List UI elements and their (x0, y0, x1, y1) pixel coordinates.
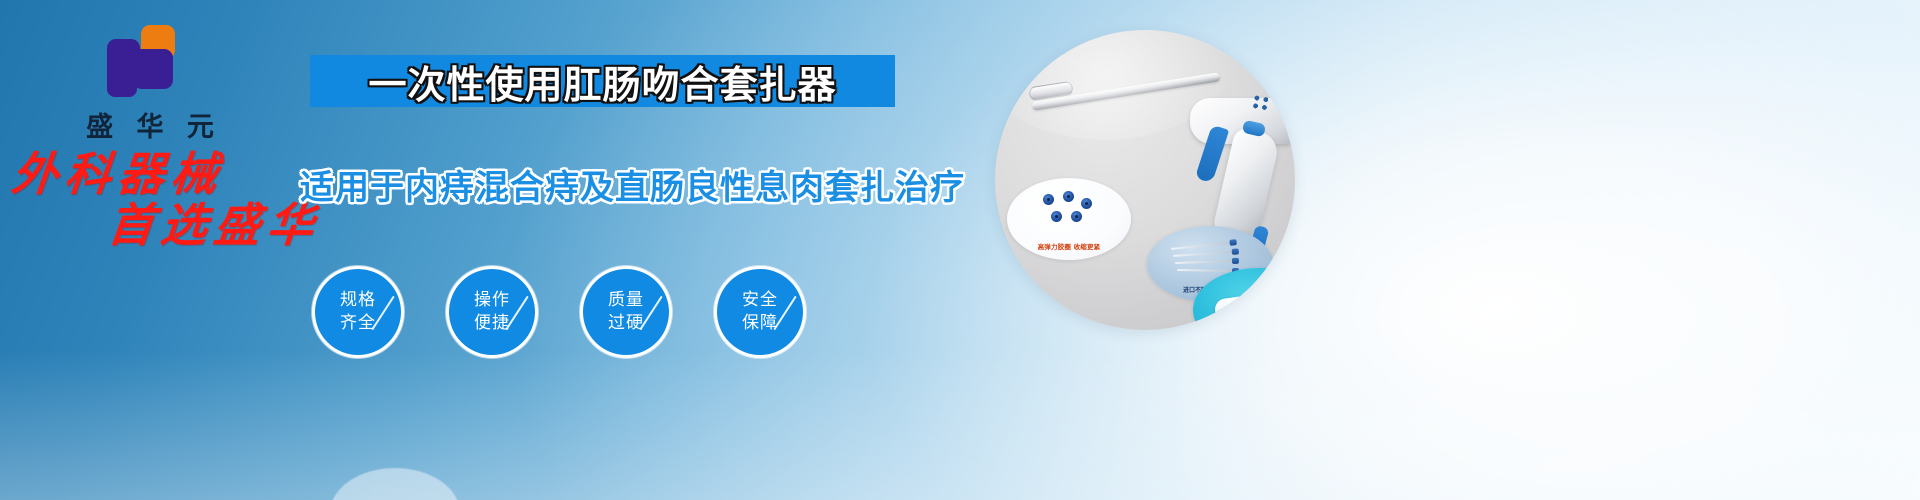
feature-badge[interactable]: 操作 便捷 (446, 266, 538, 358)
needle-icon (1177, 269, 1235, 272)
rubber-band-icon (1081, 198, 1092, 209)
feature-label-line2: 齐全 (340, 312, 376, 335)
main-title: 一次性使用肛肠吻合套扎器 (368, 54, 836, 109)
feature-badge[interactable]: 安全 保障 (714, 266, 806, 358)
inset-bands-caption: 高弹力胶圈 收缩更紧 (1007, 241, 1131, 251)
feature-label-line2: 保障 (742, 312, 778, 335)
inset-rubber-bands: 高弹力胶圈 收缩更紧 (1007, 178, 1131, 260)
feature-label-line2: 过硬 (608, 312, 644, 335)
decorative-arc (330, 468, 460, 500)
feature-badge[interactable]: 规格 齐全 (312, 266, 404, 358)
tube-cap (1287, 294, 1295, 320)
subtitle: 适用于内痔混合痔及直肠良性息肉套扎治疗 (300, 160, 965, 209)
feature-badge[interactable]: 质量 过硬 (580, 266, 672, 358)
feature-badges: 规格 齐全 操作 便捷 质量 过硬 安全 保障 (312, 266, 806, 358)
logo-square-purple-right (133, 49, 173, 89)
feature-label-line1: 质量 (608, 289, 644, 312)
company-logo[interactable]: 盛 华 元 (60, 25, 240, 144)
needle-icon (1173, 251, 1235, 257)
rubber-band-icon (1063, 191, 1074, 202)
feature-label-line1: 操作 (474, 289, 510, 312)
company-name: 盛 华 元 (60, 105, 240, 144)
feature-label-line1: 安全 (742, 289, 778, 312)
product-photo: 高弹力胶圈 收缩更紧 进口不锈钢长柄推杆 (995, 30, 1295, 330)
logo-square-purple-bottom (107, 67, 137, 97)
logo-mark-icon (107, 25, 193, 101)
rubber-band-icon (1043, 194, 1054, 205)
promo-banner: 盛 华 元 外科器械 首选盛华 一次性使用肛肠吻合套扎器 适用于内痔混合痔及直肠… (0, 0, 1920, 500)
feature-label-line2: 便捷 (474, 312, 510, 335)
ligator-vent-holes-icon (1249, 92, 1274, 116)
rubber-band-icon (1071, 211, 1082, 222)
needle-icon (1171, 242, 1233, 250)
needle-icon (1175, 260, 1235, 264)
rubber-band-icon (1051, 211, 1062, 222)
feature-label-line1: 规格 (340, 289, 376, 312)
main-title-plate: 一次性使用肛肠吻合套扎器 (310, 55, 895, 107)
